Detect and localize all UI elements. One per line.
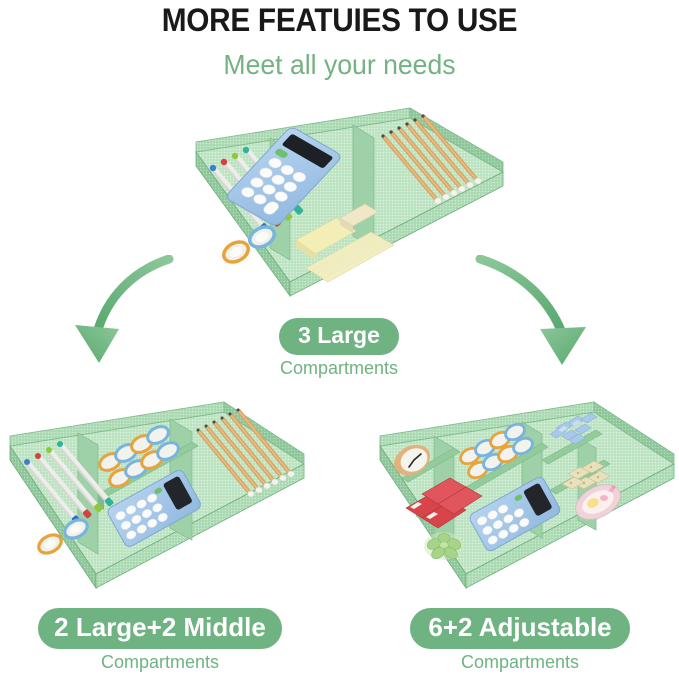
curved-arrow-icon-down-left — [55, 255, 175, 380]
caption-sub-6-plus-2-adjustable: Compartments — [370, 652, 670, 673]
caption-6-plus-2-adjustable: 6+2 Adjustable Compartments — [370, 608, 670, 673]
badge-2-large-2-middle: 2 Large+2 Middle — [38, 608, 282, 649]
page-subtitle: Meet all your needs — [17, 48, 662, 82]
tray-bottom-left-2-large-2-middle — [2, 398, 312, 603]
tray-bottom-right-6-plus-2-adjustable — [372, 398, 679, 603]
tray-top-3-large — [178, 100, 508, 305]
page-title: MORE FEATUIES TO USE — [24, 1, 655, 39]
caption-2-large-2-middle: 2 Large+2 Middle Compartments — [10, 608, 310, 673]
caption-sub-3-large: Compartments — [239, 358, 439, 379]
badge-6-plus-2-adjustable: 6+2 Adjustable — [410, 608, 629, 649]
caption-sub-2-large-2-middle: Compartments — [10, 652, 310, 673]
badge-3-large: 3 Large — [279, 318, 399, 355]
infographic-canvas: MORE FEATUIES TO USE Meet all your needs — [0, 0, 679, 678]
curved-arrow-icon-down-right — [470, 255, 610, 380]
caption-3-large: 3 Large Compartments — [239, 318, 439, 379]
